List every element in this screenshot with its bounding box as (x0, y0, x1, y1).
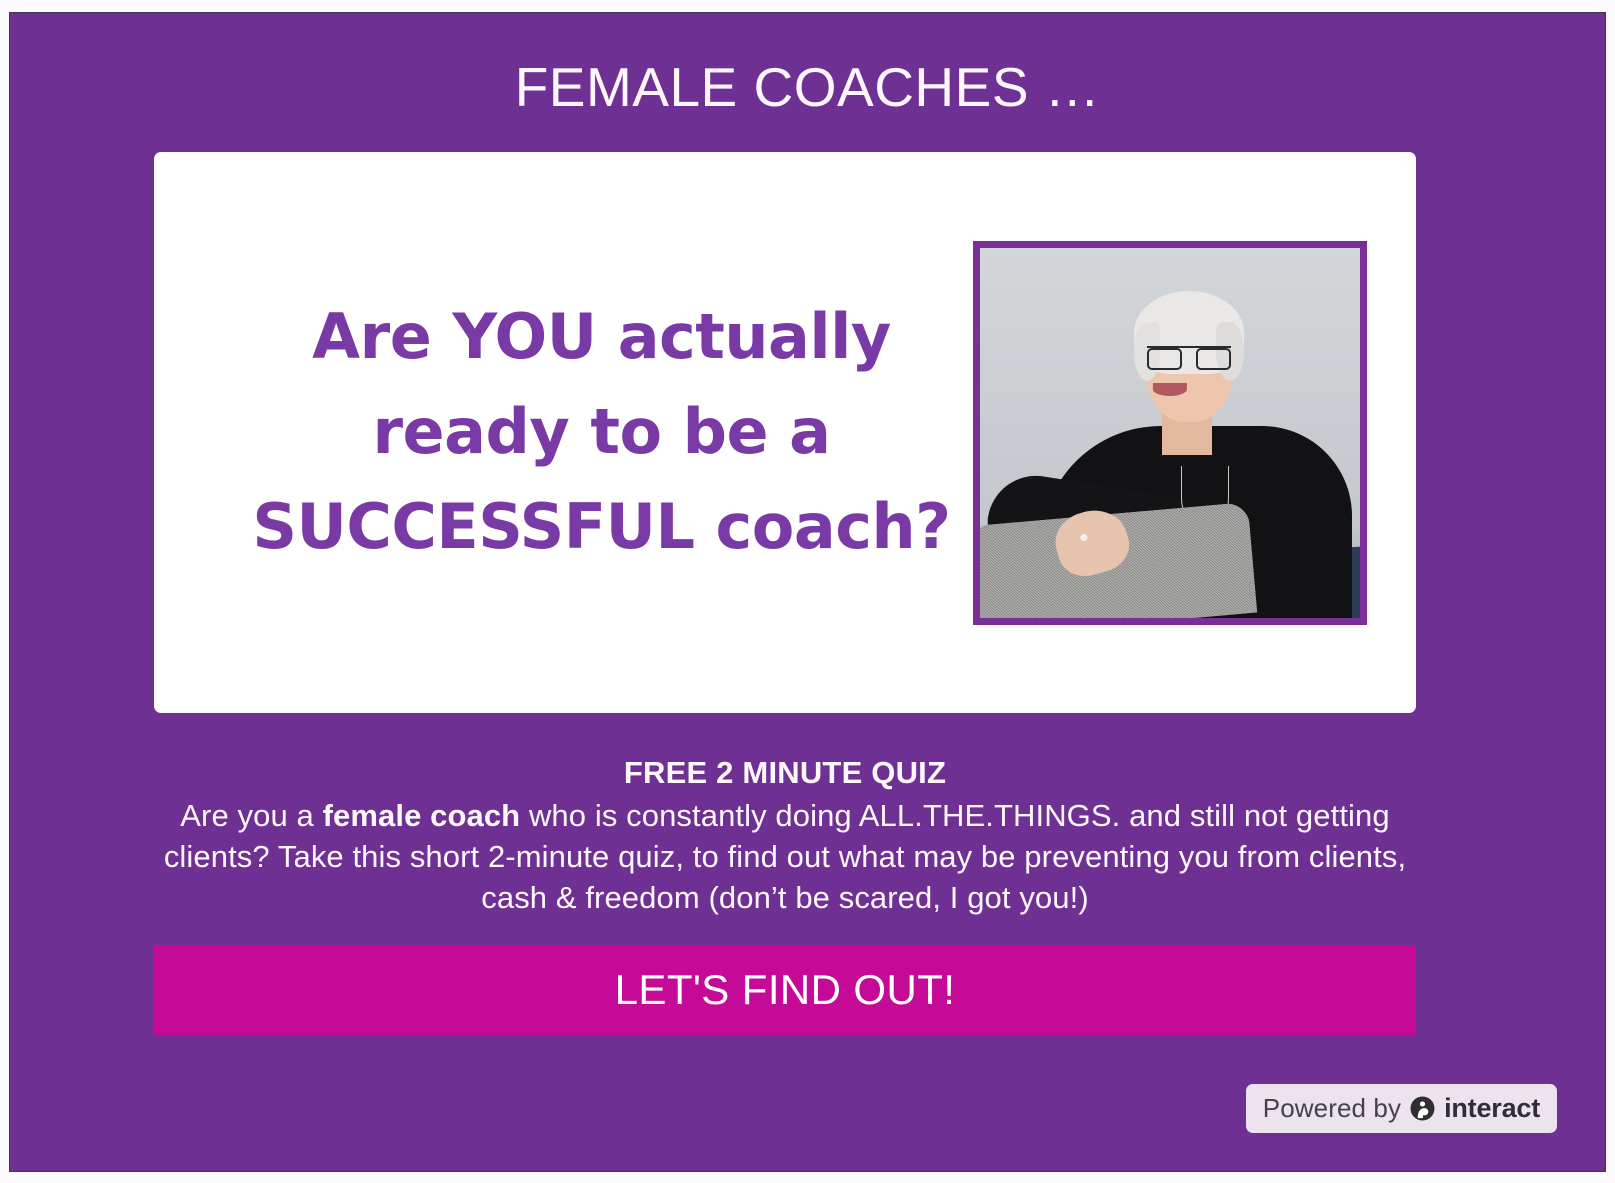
hero-card: Are YOU actually ready to be a SUCCESSFU… (154, 152, 1416, 713)
quiz-kicker: FREE 2 MINUTE QUIZ (154, 752, 1416, 794)
quiz-description-emphasis: female coach (323, 798, 521, 833)
hero-headline: Are YOU actually ready to be a SUCCESSFU… (199, 290, 1004, 575)
powered-by-interact-badge[interactable]: Powered by interact (1246, 1084, 1557, 1133)
interact-logo-icon (1410, 1096, 1435, 1121)
hero-headline-line-3: SUCCESSFUL coach? (199, 480, 1004, 575)
portrait-photo (980, 248, 1360, 618)
page-root: FEMALE COACHES … Are YOU actually ready … (0, 0, 1615, 1183)
powered-by-label: Powered by (1263, 1093, 1401, 1124)
photo-glasses (1147, 346, 1231, 370)
lets-find-out-button[interactable]: LET'S FIND OUT! (154, 945, 1416, 1035)
quiz-description: Are you a female coach who is constantly… (154, 796, 1416, 919)
quiz-description-part-1: Are you a (180, 798, 322, 833)
interact-wordmark: interact (1444, 1093, 1540, 1124)
quiz-description-block: FREE 2 MINUTE QUIZ Are you a female coac… (154, 752, 1416, 919)
hero-headline-line-1: Are YOU actually (199, 290, 1004, 385)
page-title: FEMALE COACHES … (10, 59, 1605, 117)
portrait-frame (973, 241, 1367, 625)
cta-label: LET'S FIND OUT! (615, 966, 956, 1014)
quiz-landing-canvas: FEMALE COACHES … Are YOU actually ready … (9, 12, 1606, 1172)
hero-headline-line-2: ready to be a (199, 385, 1004, 480)
